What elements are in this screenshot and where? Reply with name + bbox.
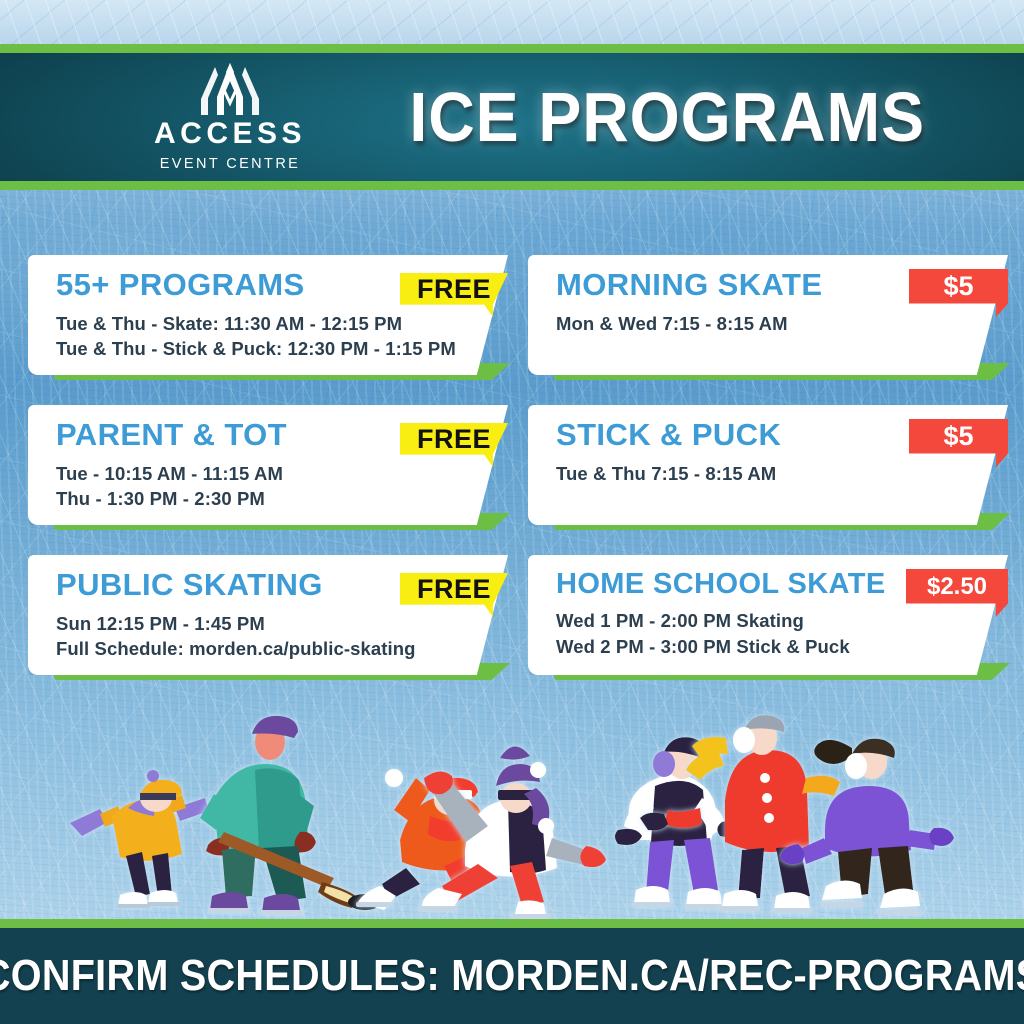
card-schedule-lines: Tue & Thu - Skate: 11:30 AM - 12:15 PM T… <box>56 311 508 362</box>
card-row-2: PARENT & TOT Tue - 10:15 AM - 11:15 AM T… <box>0 405 1024 555</box>
skater-figure <box>200 716 382 915</box>
card-schedule-lines: Mon & Wed 7:15 - 8:15 AM <box>556 311 1008 337</box>
top-green-rule <box>0 44 1024 53</box>
card-schedule-line: Tue & Thu 7:15 - 8:15 AM <box>556 461 1008 487</box>
program-card[interactable]: STICK & PUCK Tue & Thu 7:15 - 8:15 AM $5 <box>528 405 1008 537</box>
card-schedule-line: Tue & Thu - Skate: 11:30 AM - 12:15 PM <box>56 311 508 337</box>
card-schedule-line: Sun 12:15 PM - 1:45 PM <box>56 611 508 637</box>
program-card[interactable]: 55+ PROGRAMS Tue & Thu - Skate: 11:30 AM… <box>28 255 508 387</box>
page-title: ICE PROGRAMS <box>330 77 1004 157</box>
card-schedule-lines: Tue & Thu 7:15 - 8:15 AM <box>556 461 1008 487</box>
brand-name: ACCESS <box>135 119 325 149</box>
card-schedule-lines: Wed 1 PM - 2:00 PM Skating Wed 2 PM - 3:… <box>556 608 1008 659</box>
skater-figure <box>70 770 209 908</box>
card-schedule-line: Wed 2 PM - 3:00 PM Stick & Puck <box>556 634 1008 660</box>
card-schedule-lines: Tue - 10:15 AM - 11:15 AM Thu - 1:30 PM … <box>56 461 508 512</box>
footer-green-rule <box>0 919 1024 928</box>
card-schedule-line: Mon & Wed 7:15 - 8:15 AM <box>556 311 1008 337</box>
footer-cta: CONFIRM SCHEDULES: MORDEN.CA/REC-PROGRAM… <box>0 928 1024 1024</box>
brand-logo: ACCESS EVENT CENTRE <box>135 57 325 172</box>
access-mountain-logo-icon <box>187 57 273 117</box>
footer-banner: CONFIRM SCHEDULES: MORDEN.CA/REC-PROGRAM… <box>0 928 1024 1024</box>
card-schedule-line: Thu - 1:30 PM - 2:30 PM <box>56 486 508 512</box>
card-schedule-line: Wed 1 PM - 2:00 PM Skating <box>556 608 1008 634</box>
ice-programs-poster: ACCESS EVENT CENTRE ICE PROGRAMS 55+ PRO… <box>0 0 1024 1024</box>
card-schedule-line: Full Schedule: morden.ca/public-skating <box>56 636 508 662</box>
card-schedule-line: Tue - 10:15 AM - 11:15 AM <box>56 461 508 487</box>
header-banner: ACCESS EVENT CENTRE ICE PROGRAMS <box>0 53 1024 181</box>
program-card[interactable]: HOME SCHOOL SKATE Wed 1 PM - 2:00 PM Ska… <box>528 555 1008 687</box>
program-card[interactable]: PARENT & TOT Tue - 10:15 AM - 11:15 AM T… <box>28 405 508 537</box>
ice-skaters-illustration <box>0 690 1024 920</box>
card-schedule-line: Tue & Thu - Stick & Puck: 12:30 PM - 1:1… <box>56 336 508 362</box>
brand-subtitle: EVENT CENTRE <box>135 156 325 172</box>
header-bottom-green-rule <box>0 181 1024 190</box>
program-card[interactable]: PUBLIC SKATING Sun 12:15 PM - 1:45 PM Fu… <box>28 555 508 687</box>
top-ice-strip <box>0 0 1024 44</box>
program-cards: 55+ PROGRAMS Tue & Thu - Skate: 11:30 AM… <box>0 255 1024 705</box>
card-schedule-lines: Sun 12:15 PM - 1:45 PM Full Schedule: mo… <box>56 611 508 662</box>
card-row-3: PUBLIC SKATING Sun 12:15 PM - 1:45 PM Fu… <box>0 555 1024 705</box>
card-row-1: 55+ PROGRAMS Tue & Thu - Skate: 11:30 AM… <box>0 255 1024 405</box>
program-card[interactable]: MORNING SKATE Mon & Wed 7:15 - 8:15 AM $… <box>528 255 1008 387</box>
